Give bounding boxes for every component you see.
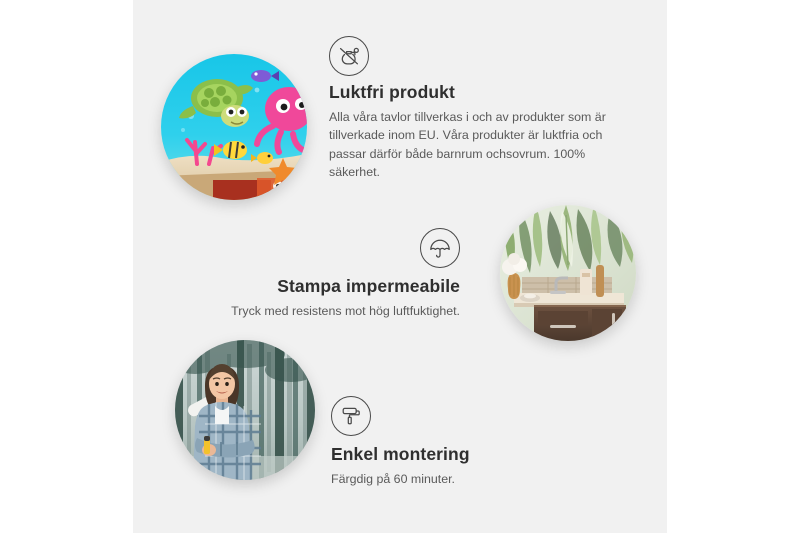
- feature-body: Alla våra tavlor tillverkas i och av pro…: [329, 108, 629, 181]
- feature-waterproof: Stampa impermeabile Tryck med resistens …: [160, 228, 460, 320]
- feature-title: Luktfri produkt: [329, 82, 629, 104]
- decorator-forest-photo: [175, 340, 315, 480]
- feature-title: Enkel montering: [331, 444, 631, 466]
- feature-body: Tryck med resistens mot hög luftfuktighe…: [160, 302, 460, 320]
- no-fragrance-bottle-icon: [329, 36, 369, 76]
- feature-odourless: Luktfri produkt Alla våra tavlor tillver…: [329, 36, 629, 181]
- underwater-scene-photo: [161, 54, 307, 200]
- feature-easy-mount: Enkel montering Färgdig på 60 minuter.: [331, 396, 631, 488]
- feature-body: Färgdig på 60 minuter.: [331, 470, 631, 488]
- feature-title: Stampa impermeabile: [160, 276, 460, 298]
- promo-infographic: Luktfri produkt Alla våra tavlor tillver…: [0, 0, 800, 533]
- paint-roller-icon: [331, 396, 371, 436]
- umbrella-icon: [420, 228, 460, 268]
- bathroom-wallpaper-photo: [500, 205, 636, 341]
